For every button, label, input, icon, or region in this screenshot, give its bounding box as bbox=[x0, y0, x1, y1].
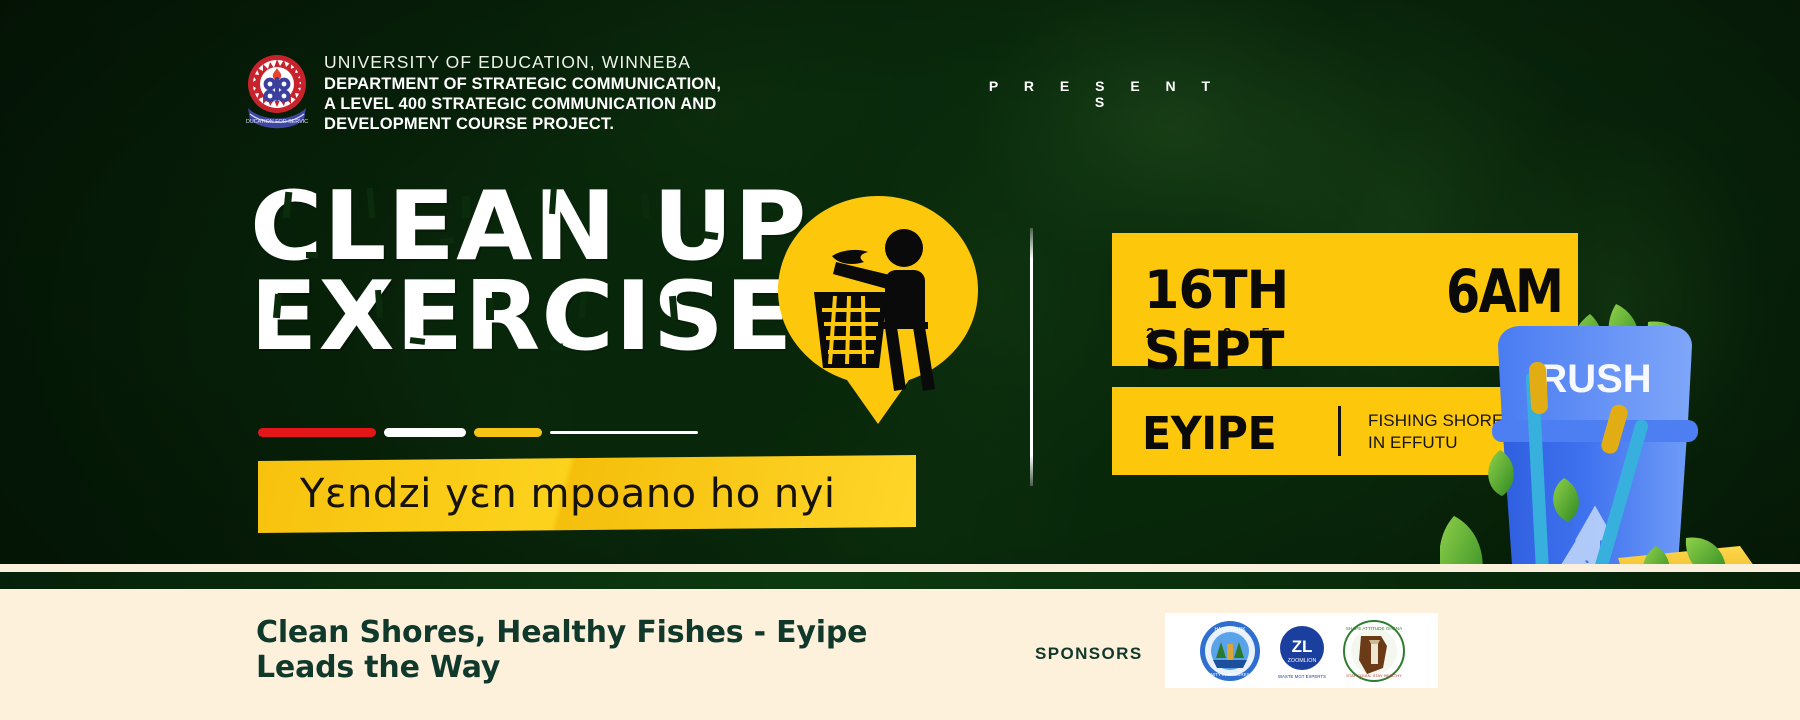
department-lines: DEPARTMENT OF STRATEGIC COMMUNICATION, A… bbox=[324, 74, 721, 134]
flyer-canvas: EDUCATION FOR SERVICE UNIVERSITY OF EDUC… bbox=[0, 0, 1800, 720]
university-name: UNIVERSITY OF EDUCATION, WINNEBA bbox=[324, 52, 721, 72]
footer-tagline-line-2: Leads the Way bbox=[256, 650, 896, 685]
svg-text:EDUCATION FOR SERVICE: EDUCATION FOR SERVICE bbox=[246, 119, 308, 125]
location-separator bbox=[1338, 406, 1341, 456]
litter-bin-tidyman-icon bbox=[778, 196, 978, 424]
svg-text:ZL: ZL bbox=[1291, 637, 1312, 656]
shape-attitude-ghana-logo: SHAPE ATTITUDE GHANA STAY CLEAN, STAY HE… bbox=[1343, 620, 1405, 682]
slogan-band: Yɛndzi yɛn mpoano ho nyi bbox=[258, 455, 916, 533]
effutu-municipal-assembly-logo: HARD WORK UNITY IN PROGRESS bbox=[1199, 620, 1261, 682]
divider-stripe-cream bbox=[0, 564, 1800, 572]
rule-segment-gold bbox=[474, 428, 542, 437]
title-line-2: EXERCISE bbox=[250, 276, 807, 360]
svg-text:HARD WORK: HARD WORK bbox=[1214, 627, 1246, 633]
rule-segment-white bbox=[384, 428, 466, 437]
event-location: EYIPE bbox=[1142, 407, 1276, 460]
svg-text:WASTE MGT EXPERTS: WASTE MGT EXPERTS bbox=[1278, 674, 1326, 679]
rule-segment-thin bbox=[550, 431, 698, 434]
header-text-block: UNIVERSITY OF EDUCATION, WINNEBA DEPARTM… bbox=[324, 46, 721, 135]
sponsor-logo-strip: HARD WORK UNITY IN PROGRESS ZL ZOOMLION … bbox=[1165, 613, 1438, 688]
bin-label: RUSH bbox=[1538, 357, 1651, 401]
header-block: EDUCATION FOR SERVICE UNIVERSITY OF EDUC… bbox=[246, 46, 721, 136]
svg-text:STAY CLEAN, STAY HEALTHY: STAY CLEAN, STAY HEALTHY bbox=[1346, 673, 1402, 678]
department-line-3: DEVELOPMENT COURSE PROJECT. bbox=[324, 114, 721, 134]
title-line-1: CLEAN UP bbox=[250, 186, 807, 270]
sponsors-label: SPONSORS bbox=[1035, 644, 1143, 664]
presents-label: P R E S E N T S bbox=[975, 78, 1235, 110]
divider-stripe-dark bbox=[0, 572, 1800, 589]
accent-rule bbox=[258, 428, 698, 437]
date-box: 16TH SEPT 2 0 2 5 bbox=[1112, 233, 1430, 366]
event-date: 16TH SEPT bbox=[1144, 260, 1419, 382]
vertical-divider bbox=[1030, 228, 1033, 486]
rule-segment-red bbox=[258, 428, 376, 437]
department-line-1: DEPARTMENT OF STRATEGIC COMMUNICATION, bbox=[324, 74, 721, 94]
event-year: 2 0 2 5 bbox=[1146, 325, 1283, 342]
zoomlion-logo: ZL ZOOMLION WASTE MGT EXPERTS bbox=[1271, 620, 1333, 682]
svg-text:SHAPE ATTITUDE GHANA: SHAPE ATTITUDE GHANA bbox=[1345, 626, 1402, 631]
footer-tagline-line-1: Clean Shores, Healthy Fishes - Eyipe bbox=[256, 615, 896, 650]
main-title: CLEAN UP EXERCISE bbox=[250, 186, 786, 359]
uew-crest-logo: EDUCATION FOR SERVICE bbox=[246, 46, 308, 136]
department-line-2: A LEVEL 400 STRATEGIC COMMUNICATION AND bbox=[324, 94, 721, 114]
slogan-text: Yɛndzi yɛn mpoano ho nyi bbox=[258, 471, 836, 517]
footer-tagline: Clean Shores, Healthy Fishes - Eyipe Lea… bbox=[256, 615, 896, 686]
svg-text:UNITY IN PROGRESS: UNITY IN PROGRESS bbox=[1207, 672, 1252, 677]
svg-text:ZOOMLION: ZOOMLION bbox=[1287, 658, 1316, 664]
